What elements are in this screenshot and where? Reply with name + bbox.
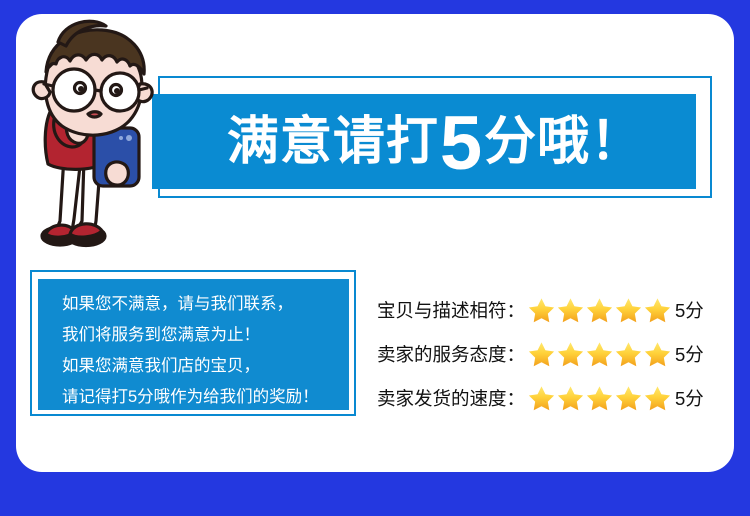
- promo-card: 满意请打5分哦！ 如果您不满意，请与我们联系， 我们将服务到您满意为止！ 如果您…: [0, 0, 750, 516]
- message-line-1: 如果您不满意，请与我们联系，: [62, 290, 349, 318]
- rating-label-service-attitude: 卖家的服务态度：: [377, 341, 525, 367]
- star-icon: [585, 340, 614, 369]
- rating-label-shipping-speed: 卖家发货的速度：: [377, 385, 525, 411]
- rating-row: 宝贝与描述相符： 5分: [377, 288, 727, 332]
- star-icon: [585, 384, 614, 413]
- rating-score-service-attitude: 5分: [675, 341, 704, 367]
- message-line-3: 如果您满意我们店的宝贝，: [62, 352, 349, 380]
- star-icon: [527, 384, 556, 413]
- star-icon: [614, 296, 643, 325]
- star-icon: [527, 340, 556, 369]
- rating-row: 卖家发货的速度： 5分: [377, 376, 727, 420]
- star-icon: [643, 296, 672, 325]
- star-rating-item-description[interactable]: [527, 296, 672, 325]
- rating-score-shipping-speed: 5分: [675, 385, 704, 411]
- rating-label-item-description: 宝贝与描述相符：: [377, 297, 525, 323]
- banner-prefix: 满意请打: [227, 116, 439, 168]
- star-icon: [643, 340, 672, 369]
- ratings-list: 宝贝与描述相符： 5分 卖家的服务态度： 5分 卖家发货的速度：: [377, 288, 727, 420]
- rating-row: 卖家的服务态度： 5分: [377, 332, 727, 376]
- banner-suffix: 分哦！: [484, 116, 643, 168]
- star-icon: [556, 384, 585, 413]
- star-rating-service-attitude[interactable]: [527, 340, 672, 369]
- rating-score-item-description: 5分: [675, 297, 704, 323]
- star-icon: [556, 340, 585, 369]
- star-icon: [556, 296, 585, 325]
- star-icon: [585, 296, 614, 325]
- cartoon-boy-illustration: [14, 16, 204, 266]
- banner-score-5: 5: [440, 114, 483, 175]
- message-line-2: 我们将服务到您满意为止！: [62, 321, 349, 349]
- star-icon: [643, 384, 672, 413]
- message-line-4: 请记得打5分哦作为给我们的奖励！: [62, 383, 349, 411]
- star-rating-shipping-speed[interactable]: [527, 384, 672, 413]
- star-icon: [527, 296, 556, 325]
- star-icon: [614, 340, 643, 369]
- banner-headline: 满意请打5分哦！: [152, 94, 696, 189]
- message-box: 如果您不满意，请与我们联系， 我们将服务到您满意为止！ 如果您满意我们店的宝贝，…: [38, 279, 349, 410]
- star-icon: [614, 384, 643, 413]
